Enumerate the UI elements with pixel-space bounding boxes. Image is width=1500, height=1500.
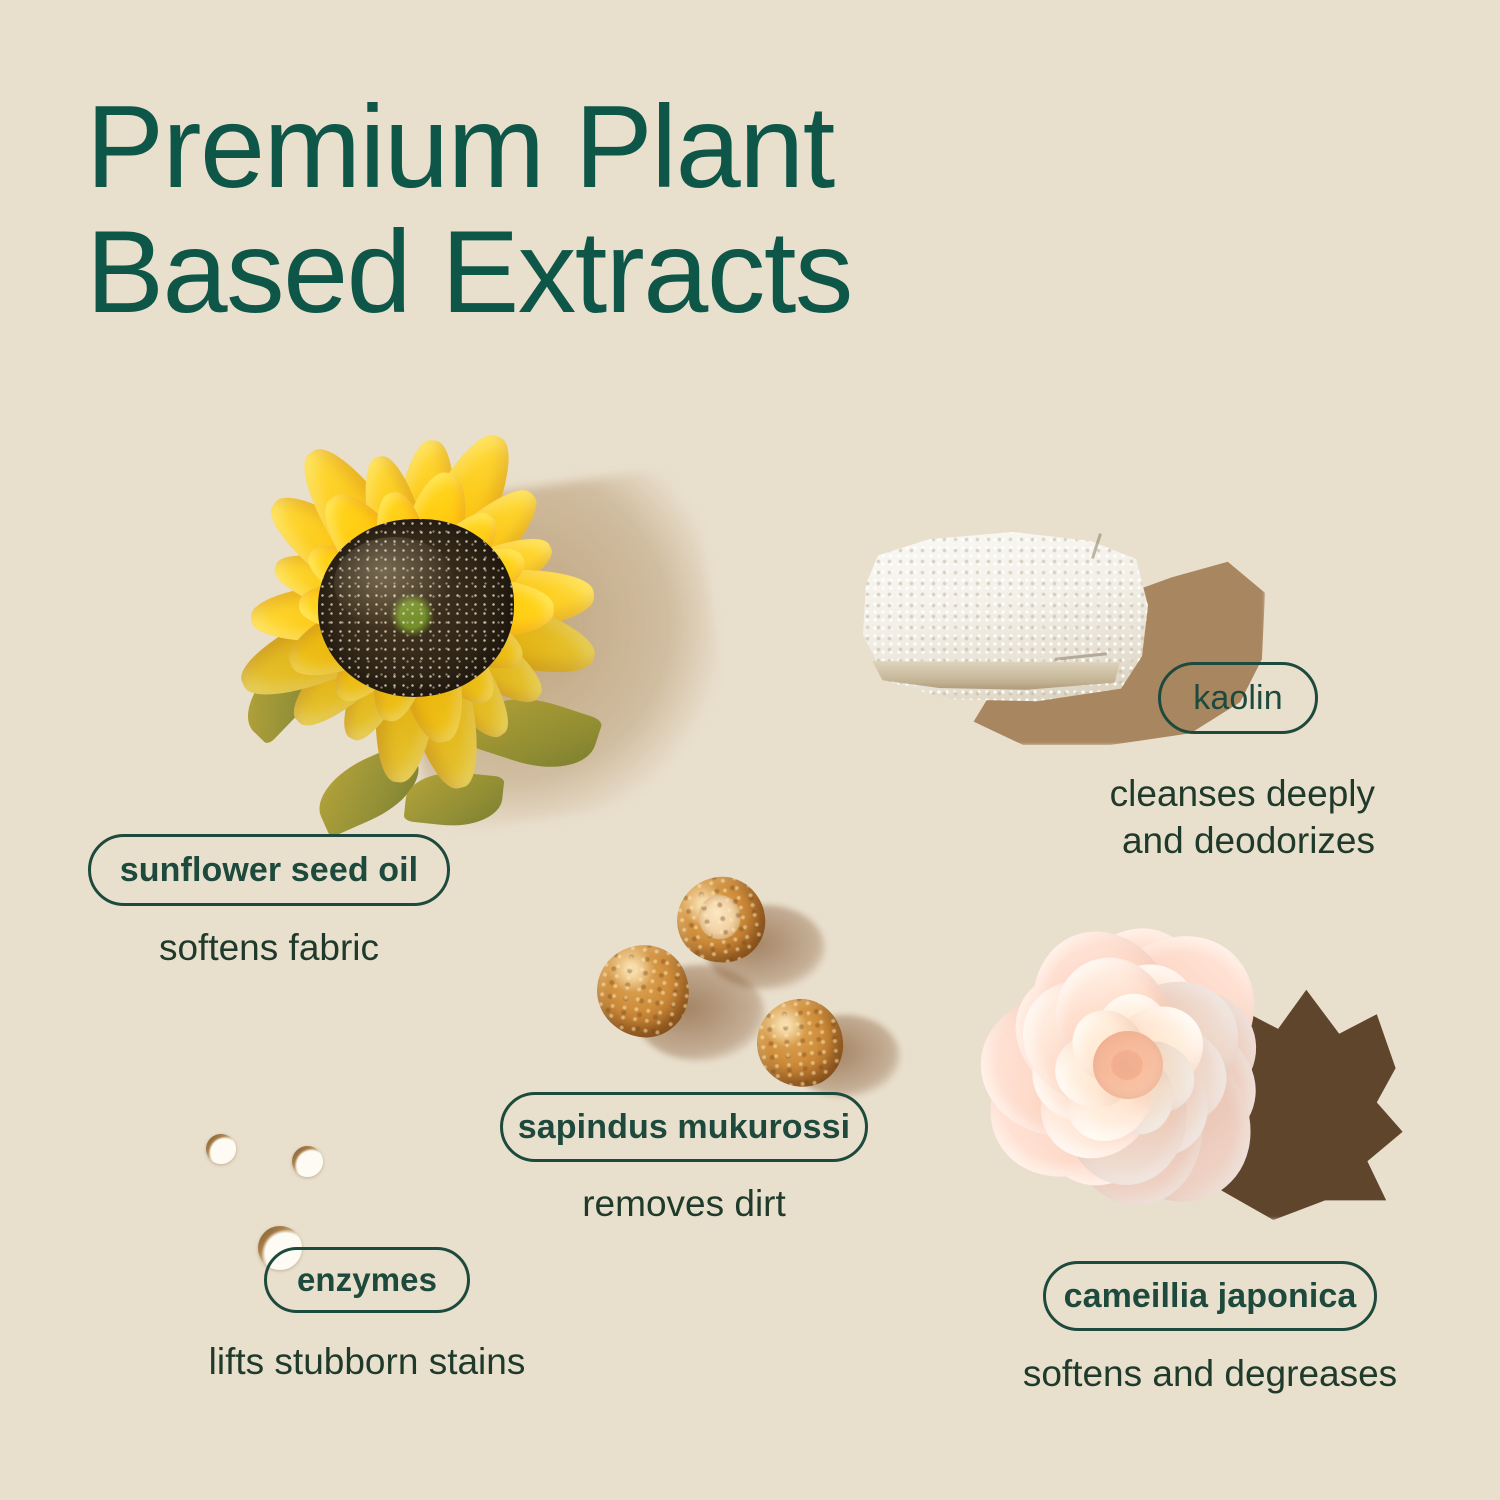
caption-cameillia-japonica: softens and degreases: [1010, 1350, 1410, 1397]
label-kaolin[interactable]: kaolin: [1158, 662, 1318, 734]
enzyme-bead: [206, 1134, 236, 1164]
sunflower-photo: [176, 400, 696, 890]
label-enzymes[interactable]: enzymes: [264, 1247, 470, 1313]
poster-canvas: Premium Plant Based Extracts: [0, 0, 1500, 1500]
page-title: Premium Plant Based Extracts: [86, 84, 986, 334]
soap-nut-seed-scar: [694, 891, 744, 943]
soap-nut: [753, 995, 846, 1090]
soap-nut: [591, 939, 695, 1043]
caption-sapindus-mukurossi: removes dirt: [500, 1180, 868, 1227]
camellia-flower-photo: [955, 905, 1405, 1270]
label-cameillia-japonica[interactable]: cameillia japonica: [1043, 1261, 1377, 1331]
label-sapindus-mukurossi[interactable]: sapindus mukurossi: [500, 1092, 868, 1162]
camellia-center-bud: [1093, 1031, 1163, 1099]
soap-nuts-photo: [575, 865, 895, 1095]
sunflower-core-highlight: [334, 537, 456, 630]
caption-kaolin: cleanses deeply and deodorizes: [975, 770, 1375, 865]
sunflower-seed-core: [318, 519, 514, 697]
caption-sunflower-seed-oil: softens fabric: [88, 924, 450, 971]
label-sunflower-seed-oil[interactable]: sunflower seed oil: [88, 834, 450, 906]
enzyme-bead: [292, 1146, 323, 1177]
sunflower-core-wrap: [226, 420, 606, 790]
caption-enzymes: lifts stubborn stains: [150, 1338, 584, 1385]
camellia-bloom: [955, 905, 1300, 1225]
